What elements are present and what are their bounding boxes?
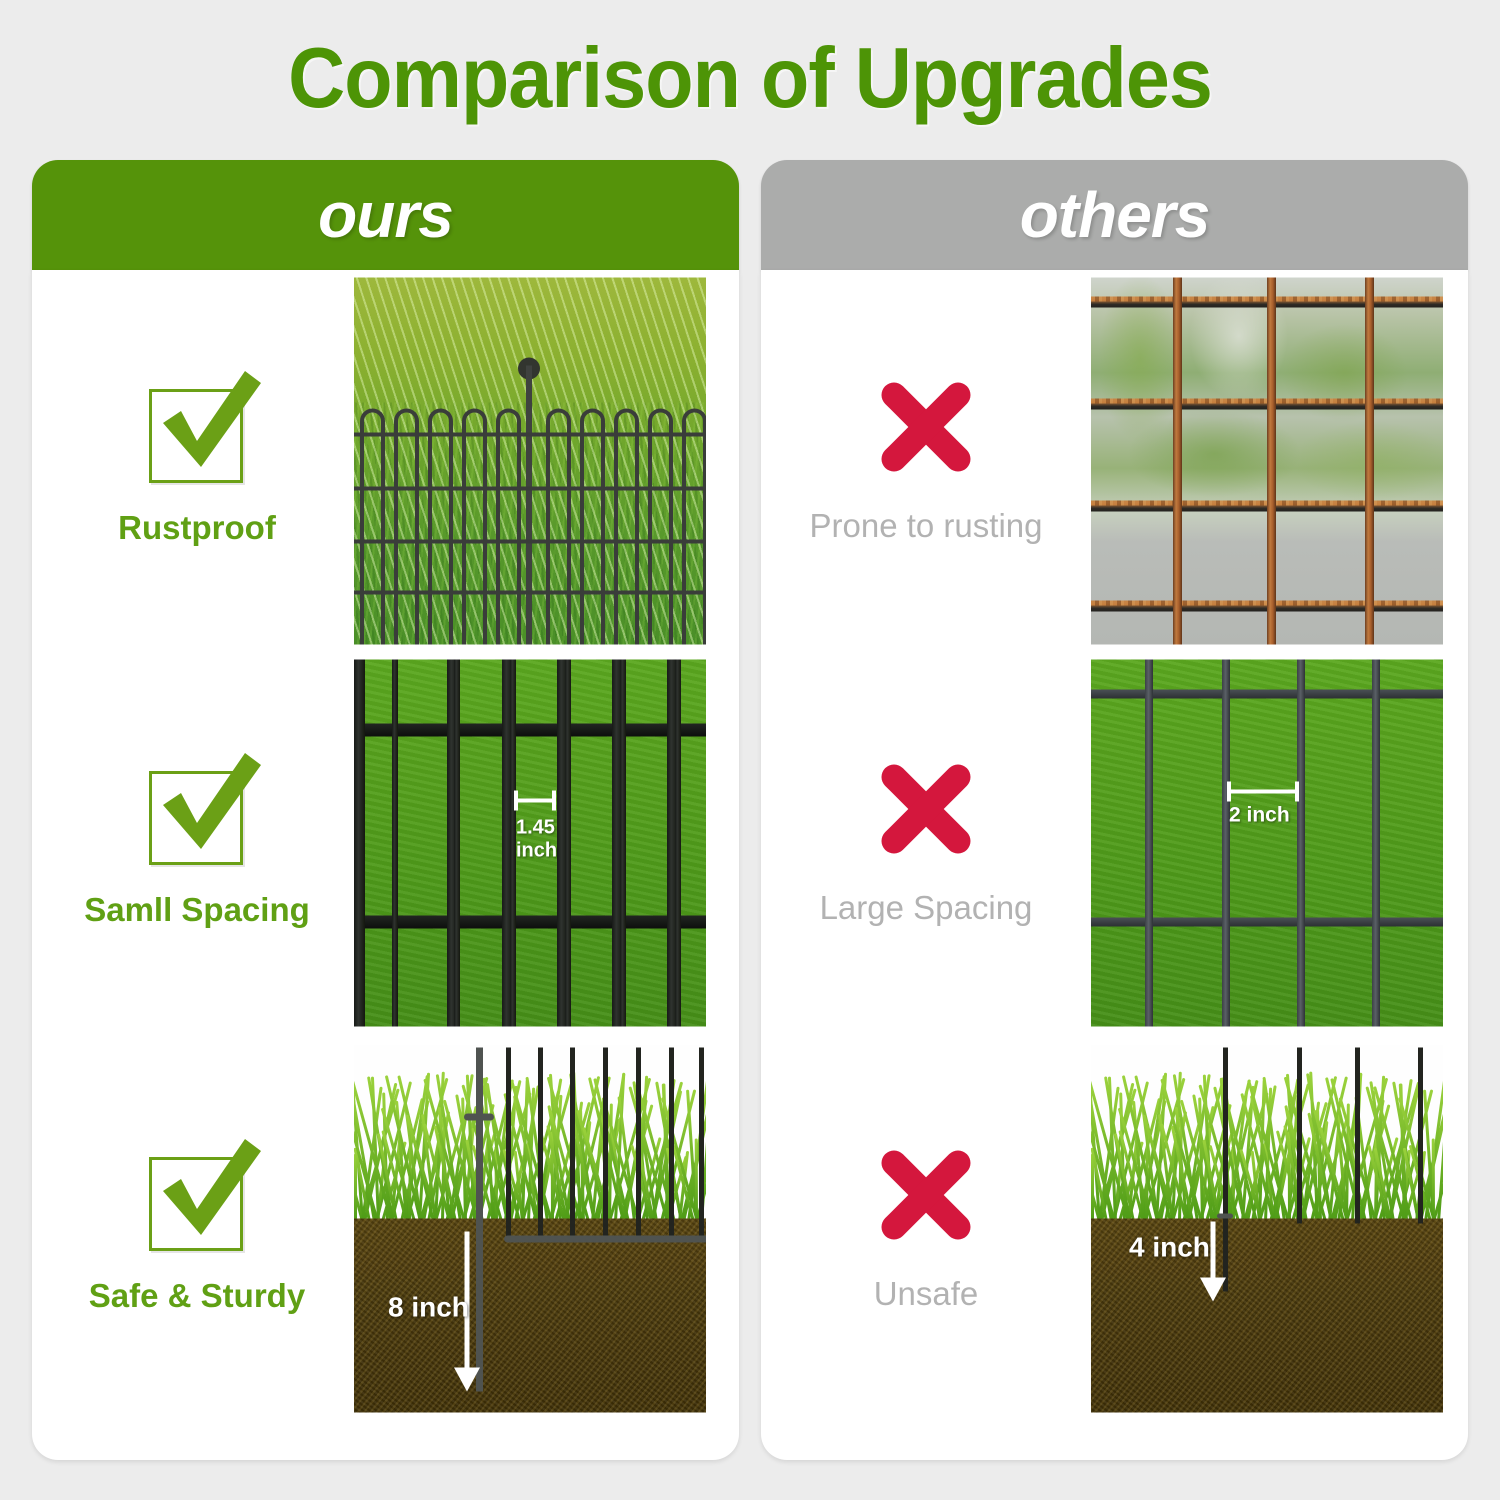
- depth-label: 8 inch: [388, 1292, 469, 1324]
- column-header-others-label: others: [761, 178, 1468, 252]
- feature-label: Prone to rusting: [810, 507, 1043, 545]
- x-icon: [876, 377, 976, 477]
- row-safe-sturdy: Safe & Sturdy: [32, 1034, 739, 1424]
- column-body-others: Prone to rusting: [761, 270, 1468, 1460]
- shallow-stake-in-soil-photo: 4 inch: [1091, 1046, 1443, 1413]
- x-icon: [876, 759, 976, 859]
- deep-stake-in-soil-photo: 8 inch: [354, 1046, 706, 1413]
- measurement-label: 2 inch: [1229, 804, 1290, 828]
- rain-on-black-fence-photo: [354, 278, 706, 645]
- feature-label: Rustproof: [118, 509, 276, 547]
- column-header-ours: ours: [32, 160, 739, 270]
- measurement-label: 1.45 inch: [516, 817, 557, 863]
- column-body-ours: Rustproof: [32, 270, 739, 1460]
- feature-label: Unsafe: [874, 1275, 979, 1313]
- feature-small-spacing: Samll Spacing: [32, 652, 362, 1034]
- check-icon: [143, 1143, 251, 1251]
- feature-label: Samll Spacing: [84, 891, 310, 929]
- wide-spacing-mesh-photo: 2 inch: [1091, 660, 1443, 1027]
- x-icon: [876, 1145, 976, 1245]
- feature-unsafe: Unsafe: [761, 1034, 1091, 1424]
- row-rustproof: Rustproof: [32, 270, 739, 652]
- feature-prone-to-rusting: Prone to rusting: [761, 270, 1091, 652]
- column-header-others: others: [761, 160, 1468, 270]
- check-icon: [143, 375, 251, 483]
- row-prone-to-rusting: Prone to rusting: [761, 270, 1468, 652]
- page-title: Comparison of Upgrades: [53, 30, 1448, 128]
- feature-label: Safe & Sturdy: [89, 1277, 305, 1315]
- row-unsafe: Unsafe: [761, 1034, 1468, 1424]
- column-others: others Prone to rusting: [761, 160, 1468, 1460]
- narrow-spacing-mesh-photo: 1.45 inch: [354, 660, 706, 1027]
- depth-label: 4 inch: [1129, 1232, 1210, 1264]
- column-ours: ours Rustproof: [32, 160, 739, 1460]
- row-small-spacing: Samll Spacing: [32, 652, 739, 1034]
- feature-large-spacing: Large Spacing: [761, 652, 1091, 1034]
- comparison-infographic: Comparison of Upgrades ours Rustproof: [0, 0, 1500, 1500]
- feature-rustproof: Rustproof: [32, 270, 362, 652]
- check-icon: [143, 757, 251, 865]
- feature-safe-sturdy: Safe & Sturdy: [32, 1034, 362, 1424]
- rusty-wire-mesh-photo: [1091, 278, 1443, 645]
- column-header-ours-label: ours: [32, 178, 739, 252]
- feature-label: Large Spacing: [820, 889, 1033, 927]
- row-large-spacing: Large Spacing 2 inch: [761, 652, 1468, 1034]
